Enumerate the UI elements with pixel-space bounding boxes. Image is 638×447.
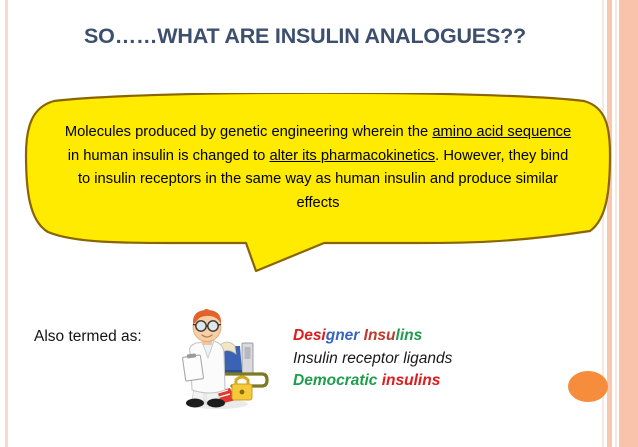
callout-text: Molecules produced by genetic engineerin…: [62, 121, 574, 215]
callout-segment-1-underlined: amino acid sequence: [432, 124, 571, 140]
alias-1-part-0: Insulin receptor ligands: [293, 350, 452, 367]
left-edge-bar: [5, 0, 8, 447]
alias-designer-insulins: Designer Insulins: [293, 325, 533, 348]
alias-list: Designer Insulins Insulin receptor ligan…: [293, 325, 533, 393]
doctor-clipart-icon: [170, 308, 276, 418]
alias-0-part-4: lins: [396, 327, 423, 344]
right-edge-hairline-2: [615, 0, 617, 447]
alias-0-part-1: gner: [326, 327, 360, 344]
callout-segment-0: Molecules produced by genetic engineerin…: [65, 124, 432, 140]
page-title: SO……WHAT ARE INSULIN ANALOGUES??: [0, 24, 610, 49]
callout-segment-3-underlined: alter its pharmacokinetics: [269, 148, 435, 164]
alias-2-part-2: insulins: [382, 372, 441, 389]
slide-canvas: SO……WHAT ARE INSULIN ANALOGUES?? Molecul…: [0, 0, 638, 447]
alias-2-part-0: Democratic: [293, 372, 377, 389]
callout-bubble: Molecules produced by genetic engineerin…: [24, 93, 612, 275]
orange-dot-decoration: [568, 371, 608, 402]
alias-democratic-insulins: Democratic insulins: [293, 370, 533, 393]
alias-0-part-0: Desi: [293, 327, 326, 344]
also-termed-as-label: Also termed as:: [34, 328, 142, 346]
alias-insulin-receptor-ligands: Insulin receptor ligands: [293, 348, 533, 371]
callout-segment-2: in human insulin is changed to: [68, 148, 270, 164]
alias-0-part-3: Insu: [364, 327, 396, 344]
right-edge-bar-wide: [619, 0, 638, 447]
